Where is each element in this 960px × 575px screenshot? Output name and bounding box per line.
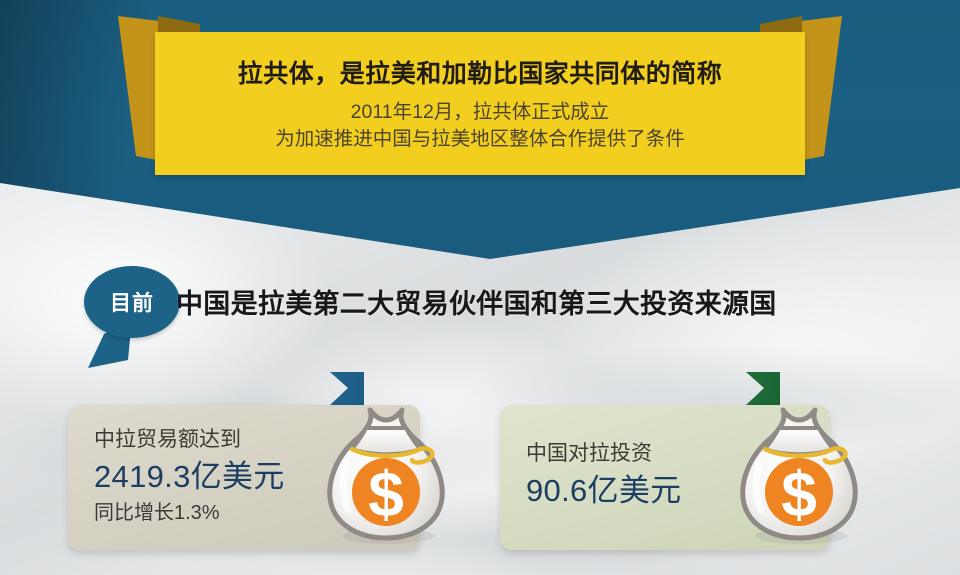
banner-subtitle: 2011年12月，拉共体正式成立 为加速推进中国与拉美地区整体合作提供了条件 — [275, 99, 685, 153]
card-text-block: 中拉贸易额达到 2419.3亿美元 同比增长1.3% — [94, 429, 285, 523]
bubble-label: 目前 — [110, 287, 154, 317]
callout-headline: 中国是拉美第二大贸易伙伴国和第三大投资来源国 — [176, 282, 777, 321]
svg-text:$: $ — [368, 458, 404, 530]
callout-bubble: 目前 — [84, 266, 180, 368]
svg-text:$: $ — [781, 458, 817, 530]
money-bag-icon: $ — [322, 404, 450, 551]
card-line-bottom: 同比增长1.3% — [94, 503, 285, 523]
ribbon-panel: 拉共体，是拉美和加勒比国家共同体的简称 2011年12月，拉共体正式成立 为加速… — [155, 32, 805, 175]
infographic-root: 拉共体，是拉美和加勒比国家共同体的简称 2011年12月，拉共体正式成立 为加速… — [0, 0, 960, 575]
money-bag-icon: $ — [735, 404, 863, 551]
title-ribbon: 拉共体，是拉美和加勒比国家共同体的简称 2011年12月，拉共体正式成立 为加速… — [100, 8, 860, 178]
card-period-banner: 2014年上半年 — [500, 372, 780, 405]
card-period-label: 2014年1至11月 — [68, 374, 234, 404]
card-text-block: 中国对拉投资 90.6亿美元 — [526, 443, 681, 506]
bubble-body: 目前 — [84, 266, 180, 338]
banner-title: 拉共体，是拉美和加勒比国家共同体的简称 — [238, 54, 723, 90]
card-line-top: 中拉贸易额达到 — [94, 429, 285, 450]
card-period-label: 2014年上半年 — [500, 374, 653, 404]
card-line-top: 中国对拉投资 — [526, 443, 681, 464]
banner-subtitle-line-2: 为加速推进中国与拉美地区整体合作提供了条件 — [275, 126, 685, 153]
card-period-banner: 2014年1至11月 — [68, 372, 364, 405]
banner-subtitle-line-1: 2011年12月，拉共体正式成立 — [275, 99, 685, 126]
card-value: 2419.3亿美元 — [94, 461, 285, 492]
card-value: 90.6亿美元 — [526, 475, 681, 506]
